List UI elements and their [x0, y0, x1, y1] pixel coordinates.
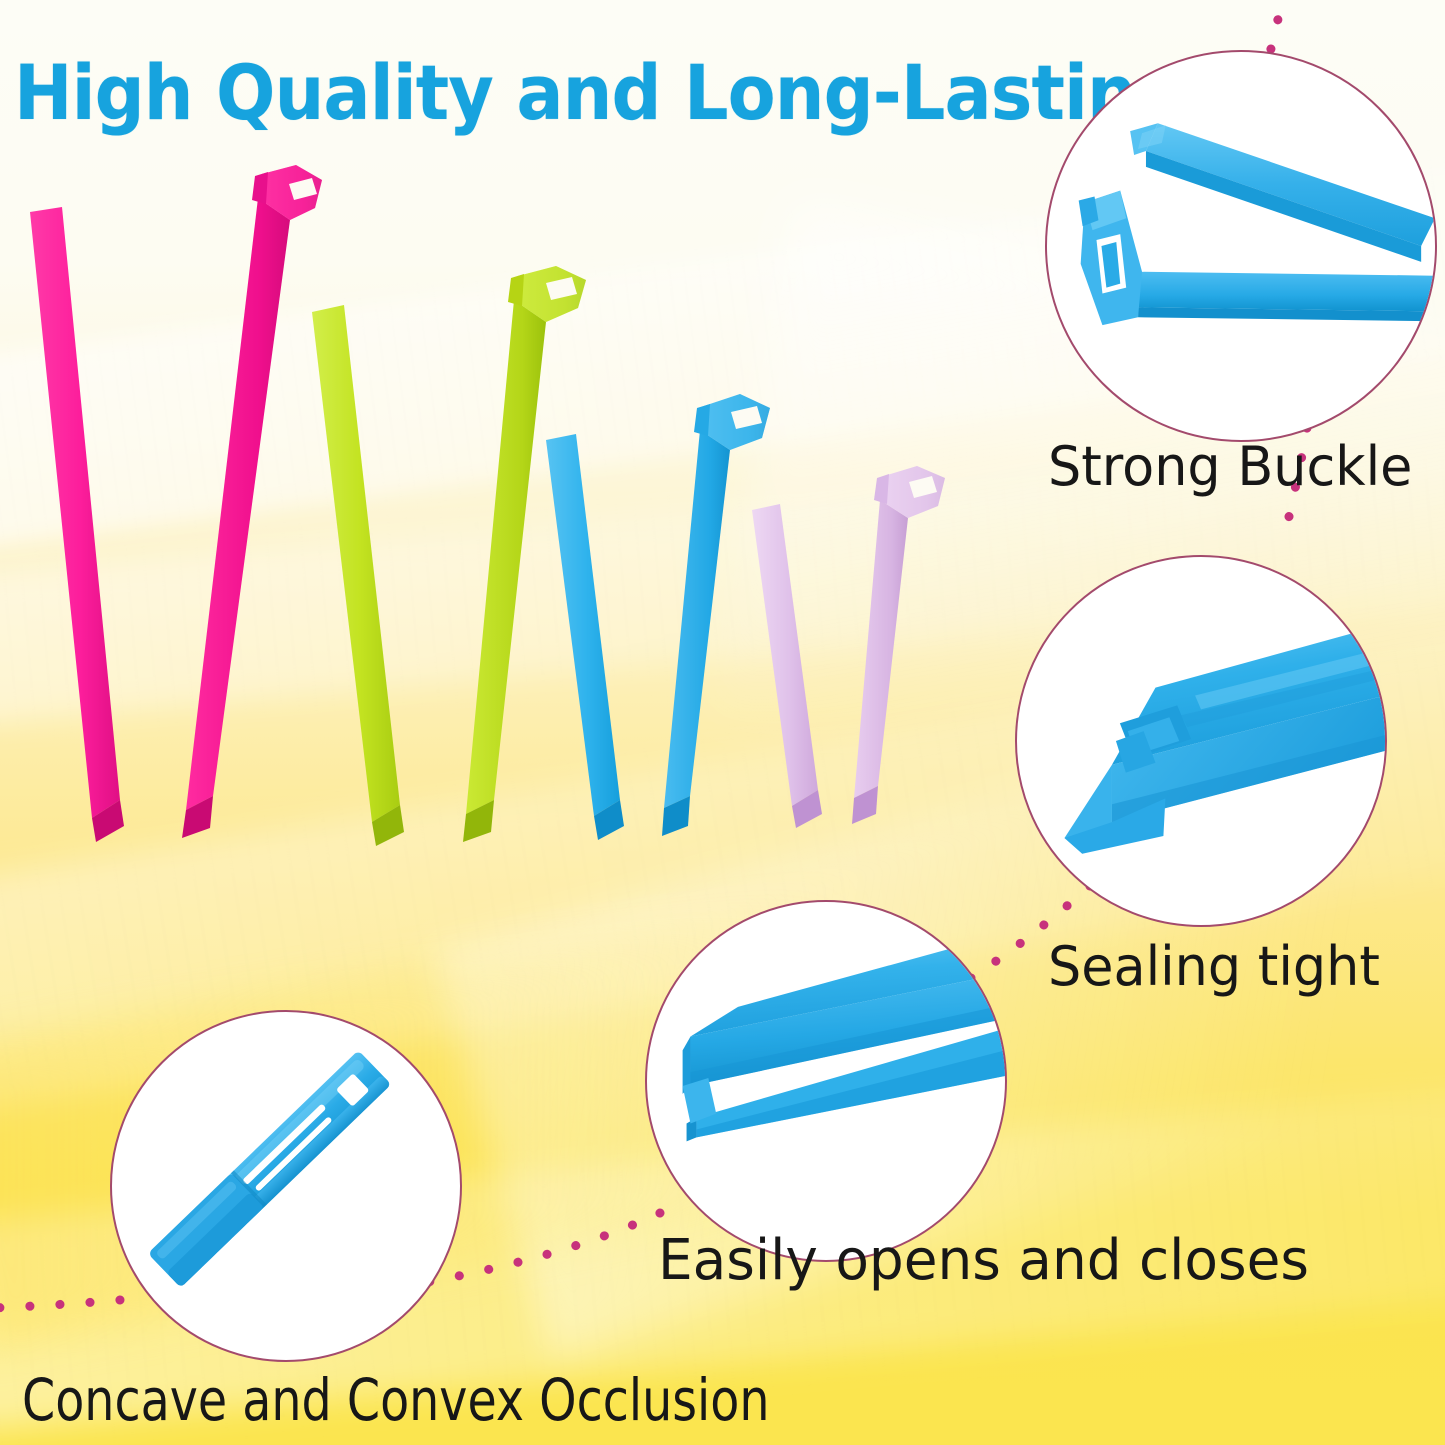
strong-buckle-icon — [1047, 52, 1435, 440]
callout-easily-opens-and-closes — [645, 900, 1007, 1262]
page-title: High Quality and Long-Lasting — [14, 48, 1185, 137]
sealing-tight-icon — [1017, 557, 1385, 925]
infographic-canvas: High Quality and Long-Lasting — [0, 0, 1445, 1445]
product-cluster — [0, 150, 1010, 910]
callout-label-sealing-tight: Sealing tight — [1048, 935, 1380, 998]
callout-label-concave-and-convex-occlusion: Concave and Convex Occlusion — [22, 1366, 769, 1434]
callout-label-strong-buckle: Strong Buckle — [1048, 435, 1412, 498]
clip-green — [312, 266, 586, 846]
easily-opens-and-closes-icon — [647, 902, 1005, 1260]
callout-concave-and-convex-occlusion — [110, 1010, 462, 1362]
clip-pink — [30, 165, 322, 842]
concave-and-convex-occlusion-icon — [112, 1012, 460, 1360]
clip-lavender — [752, 466, 945, 828]
callout-strong-buckle — [1045, 50, 1437, 442]
callout-sealing-tight — [1015, 555, 1387, 927]
clip-blue — [546, 394, 770, 840]
callout-label-easily-opens-and-closes: Easily opens and closes — [658, 1228, 1309, 1293]
